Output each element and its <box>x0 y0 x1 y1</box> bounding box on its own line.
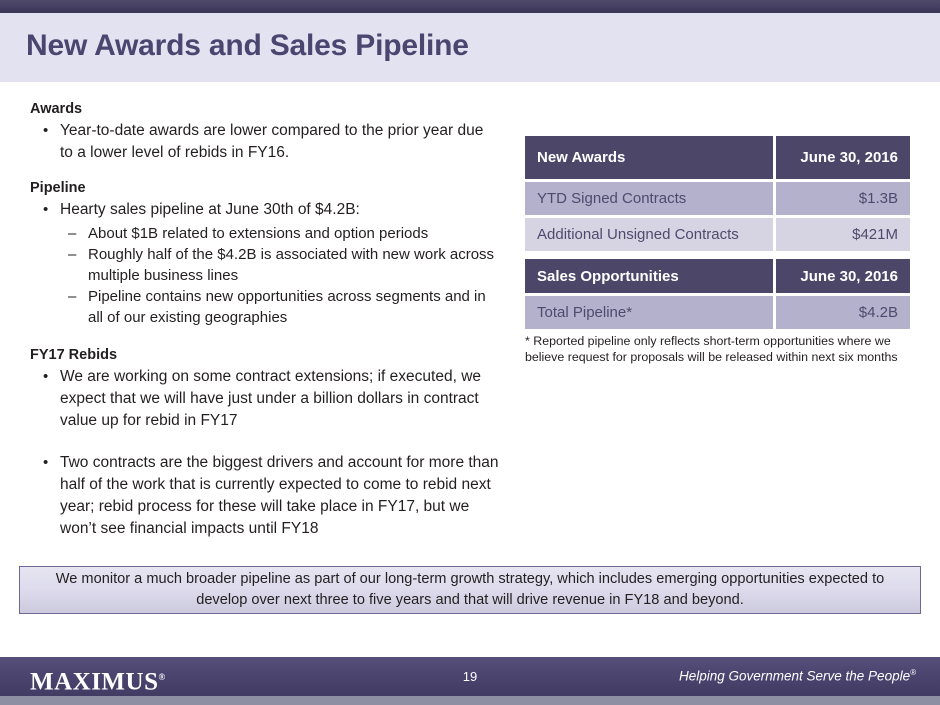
table-cell-value: $4.2B <box>776 296 910 329</box>
table-row: Total Pipeline* $4.2B <box>525 296 910 329</box>
table-header-label: New Awards <box>525 136 773 179</box>
bullet-item: • Two contracts are the biggest drivers … <box>30 452 500 540</box>
paragraph-spacer <box>30 434 500 452</box>
table-header-value: June 30, 2016 <box>776 259 910 293</box>
table-cell-label: Additional Unsigned Contracts <box>525 218 773 251</box>
bullet-text: Year-to-date awards are lower compared t… <box>60 120 500 164</box>
sub-bullet-item: – Pipeline contains new opportunities ac… <box>30 286 500 328</box>
bullet-text: We are working on some contract extensio… <box>60 366 500 432</box>
table-header-label: Sales Opportunities <box>525 259 773 293</box>
bullet-marker: • <box>43 199 60 221</box>
sub-bullet-text: Roughly half of the $4.2B is associated … <box>88 244 500 286</box>
table-cell-value: $1.3B <box>776 182 910 215</box>
sub-bullet-text: About $1B related to extensions and opti… <box>88 223 500 244</box>
sub-bullet-marker: – <box>68 244 88 286</box>
bullet-item: • Year-to-date awards are lower compared… <box>30 120 500 164</box>
sub-bullet-text: Pipeline contains new opportunities acro… <box>88 286 500 328</box>
top-accent-strip <box>0 0 940 13</box>
sub-bullet-item: – About $1B related to extensions and op… <box>30 223 500 244</box>
sub-bullet-item: – Roughly half of the $4.2B is associate… <box>30 244 500 286</box>
awards-pipeline-table: New Awards June 30, 2016 YTD Signed Cont… <box>525 136 910 332</box>
section-heading-fy17-rebids: FY17 Rebids <box>30 347 500 364</box>
footer-tagline-text: Helping Government Serve the People <box>679 669 910 684</box>
sub-bullet-marker: – <box>68 286 88 328</box>
section-heading-awards: Awards <box>30 101 500 118</box>
footer-base-strip <box>0 696 940 705</box>
table-cell-value: $421M <box>776 218 910 251</box>
table-header-row-sales-opportunities: Sales Opportunities June 30, 2016 <box>525 259 910 293</box>
callout-box: We monitor a much broader pipeline as pa… <box>19 566 921 614</box>
table-header-value: June 30, 2016 <box>776 136 910 179</box>
table-footnote: * Reported pipeline only reflects short-… <box>525 333 925 365</box>
bullet-marker: • <box>43 452 60 540</box>
page-title: New Awards and Sales Pipeline <box>26 29 469 63</box>
bullet-text: Hearty sales pipeline at June 30th of $4… <box>60 199 500 221</box>
bullet-item: • Hearty sales pipeline at June 30th of … <box>30 199 500 221</box>
bullet-marker: • <box>43 120 60 164</box>
table-cell-label: Total Pipeline* <box>525 296 773 329</box>
table-header-row-new-awards: New Awards June 30, 2016 <box>525 136 910 179</box>
registered-mark-icon: ® <box>910 668 916 677</box>
sub-bullet-marker: – <box>68 223 88 244</box>
bullet-text: Two contracts are the biggest drivers an… <box>60 452 500 540</box>
table-cell-label: YTD Signed Contracts <box>525 182 773 215</box>
footer-tagline: Helping Government Serve the People® <box>679 668 916 684</box>
table-row: YTD Signed Contracts $1.3B <box>525 182 910 215</box>
table-row: Additional Unsigned Contracts $421M <box>525 218 910 251</box>
callout-text: We monitor a much broader pipeline as pa… <box>34 569 906 611</box>
section-heading-pipeline: Pipeline <box>30 180 500 197</box>
bullet-marker: • <box>43 366 60 432</box>
bullet-item: • We are working on some contract extens… <box>30 366 500 432</box>
left-content-column: Awards • Year-to-date awards are lower c… <box>30 101 500 542</box>
